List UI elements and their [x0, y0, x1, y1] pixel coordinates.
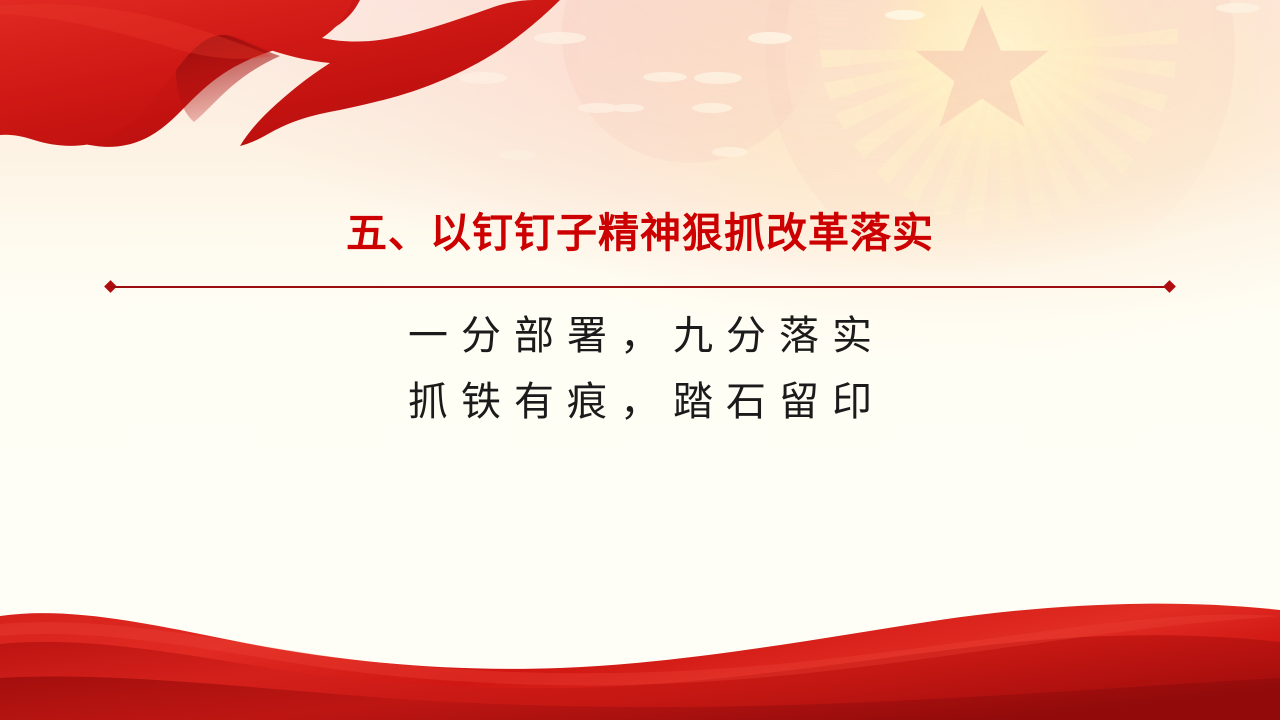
ribbon-highlight [0, 4, 272, 59]
watermark-secondary-emblem [562, 0, 818, 163]
ribbon-fold-shadow [176, 35, 280, 122]
watermark-star [915, 5, 1048, 127]
body-line-2: 抓铁有痕，踏石留印 [0, 369, 1280, 435]
page-title: 五、以钉钉子精神狠抓改革落实 [0, 207, 1280, 259]
ribbon-silhouette [0, 0, 560, 146]
divider [110, 285, 1170, 288]
divider-rule [110, 286, 1170, 288]
divider-diamond-right-icon [1163, 280, 1176, 293]
bottom-wave-decoration [0, 580, 1280, 720]
slide-canvas: 五、以钉钉子精神狠抓改革落实 一分部署，九分落实 抓铁有痕，踏石留印 [0, 0, 1280, 720]
body-couplet: 一分部署，九分落实 抓铁有痕，踏石留印 [0, 303, 1280, 435]
body-line-1: 一分部署，九分落实 [0, 303, 1280, 369]
watermark-light-specks [459, 3, 1260, 160]
ribbon-main-drape [0, 0, 360, 147]
